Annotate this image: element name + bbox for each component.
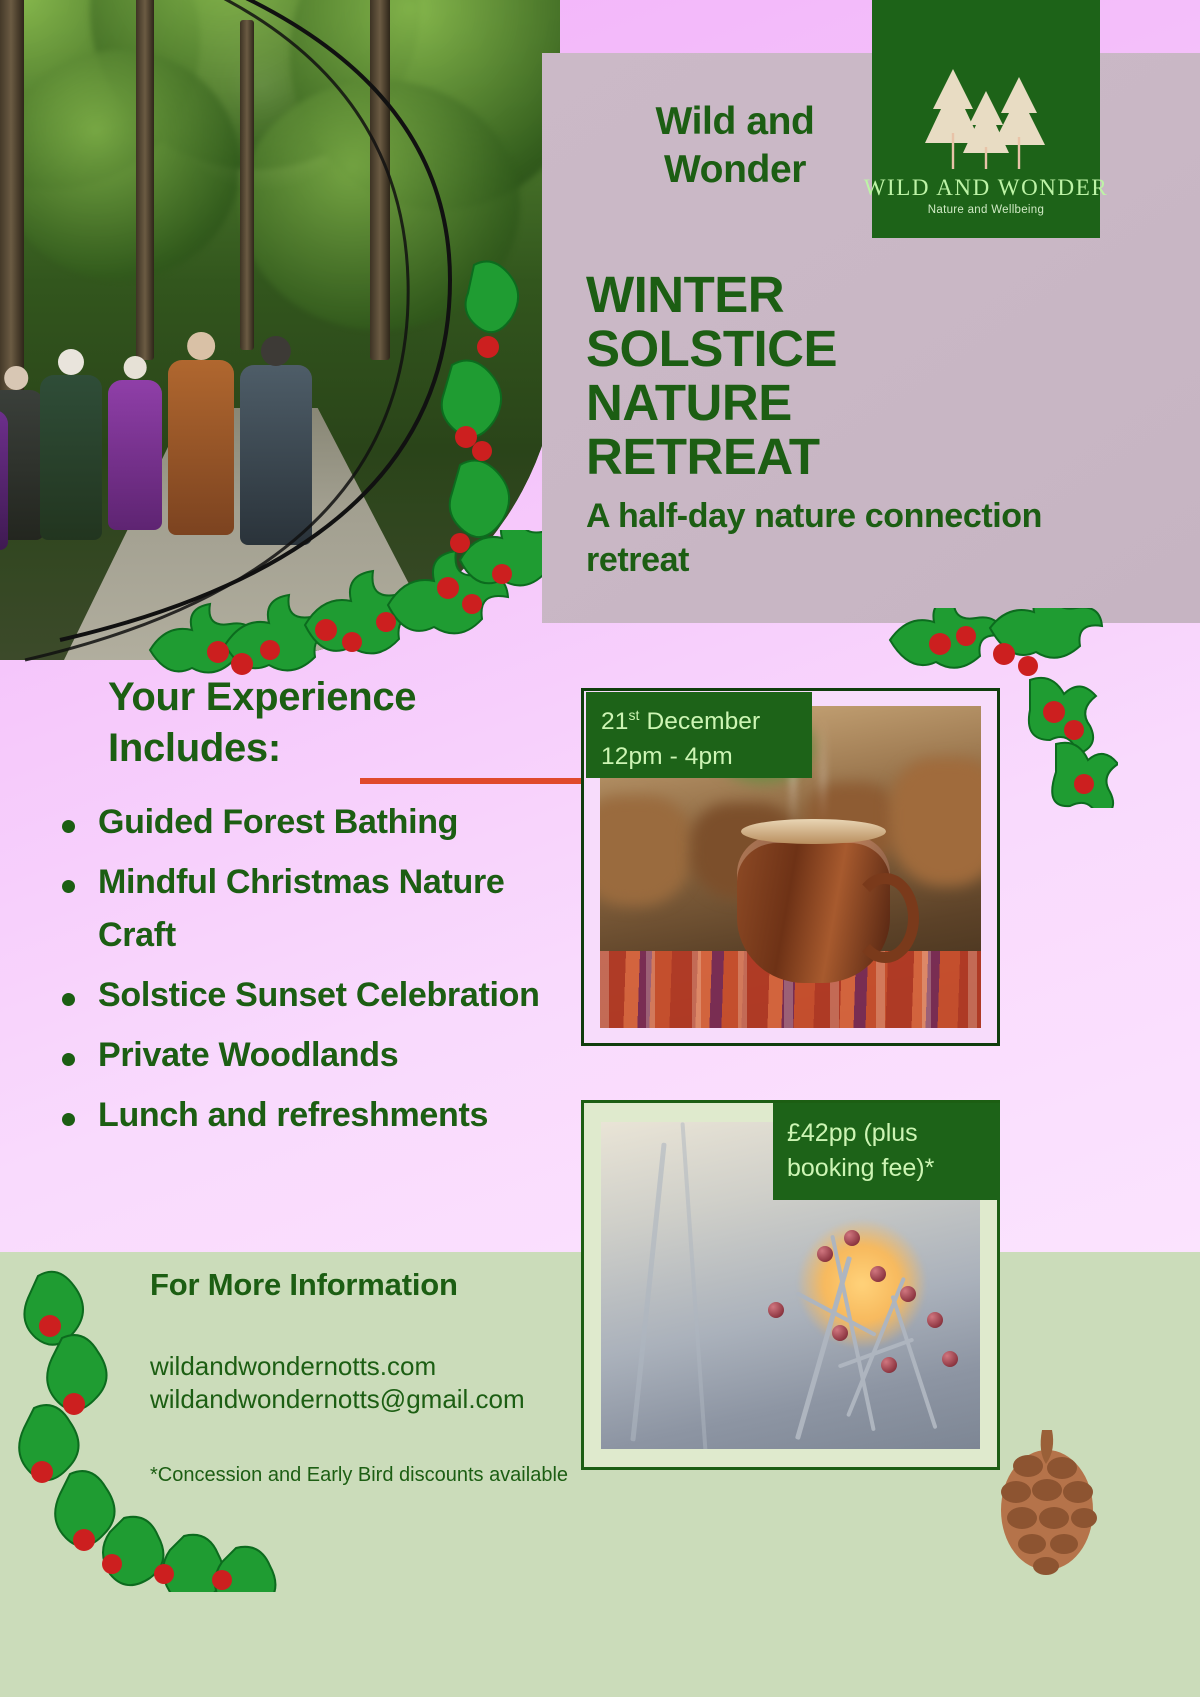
brand-logo: WILD AND WONDER Nature and Wellbeing <box>872 0 1100 238</box>
brand-name-line1: Wild and <box>656 100 815 143</box>
frost-berry <box>881 1357 897 1373</box>
title-line-4: RETREAT <box>586 430 1146 484</box>
pinecone-icon <box>988 1424 1106 1576</box>
frost-berry <box>942 1351 958 1367</box>
title-line-3: NATURE <box>586 376 1146 430</box>
experience-list: Guided Forest Bathing Mindful Christmas … <box>52 796 582 1148</box>
frost-berry <box>844 1230 860 1246</box>
footer-title: For More Information <box>150 1265 480 1305</box>
date-badge: 21st December 12pm - 4pm <box>586 692 812 778</box>
brand-name: Wild and Wonder <box>600 98 870 193</box>
three-pine-trees-icon <box>911 61 1061 173</box>
list-item: Lunch and refreshments <box>52 1089 582 1143</box>
holly-sprig-footer-icon <box>8 1262 308 1592</box>
list-item: Guided Forest Bathing <box>52 796 582 850</box>
email-link[interactable]: wildandwondernotts@gmail.com <box>150 1383 620 1416</box>
frost-berry <box>927 1312 943 1328</box>
logo-tagline: Nature and Wellbeing <box>928 204 1044 216</box>
experience-heading: Your Experience Includes: <box>108 672 548 774</box>
page-subtitle: A half-day nature connection retreat <box>586 494 1106 582</box>
date-month: December <box>646 708 760 735</box>
footer-disclaimer: *Concession and Early Bird discounts ava… <box>150 1462 580 1488</box>
poster-root: Wild and Wonder WILD AND WONDER Nature a… <box>0 0 1200 1697</box>
frost-berry <box>870 1266 886 1282</box>
page-title: WINTER SOLSTICE NATURE RETREAT <box>586 268 1146 484</box>
title-line-2: SOLSTICE <box>586 322 1146 376</box>
holly-sprig-left-edge-icon <box>430 255 550 585</box>
title-line-1: WINTER <box>586 268 1146 322</box>
list-item: Private Woodlands <box>52 1029 582 1083</box>
price-badge: £42pp (plus booking fee)* <box>773 1103 1000 1200</box>
footer-contact: wildandwondernotts.com wildandwondernott… <box>150 1350 620 1417</box>
price-line-1: £42pp (plus <box>787 1119 918 1147</box>
date-suffix: st <box>628 707 639 723</box>
website-link[interactable]: wildandwondernotts.com <box>150 1350 620 1383</box>
frost-berry <box>832 1325 848 1341</box>
list-item: Mindful Christmas Nature Craft <box>52 856 582 963</box>
price-line-2: booking fee)* <box>787 1154 934 1182</box>
frost-berry <box>900 1286 916 1302</box>
date-day: 21 <box>601 708 628 735</box>
list-item: Solstice Sunset Celebration <box>52 969 582 1023</box>
clay-mug <box>737 835 889 983</box>
date-time: 12pm - 4pm <box>601 743 733 770</box>
frost-berry <box>768 1302 784 1318</box>
logo-wordmark: WILD AND WONDER <box>864 175 1109 201</box>
brand-name-line2: Wonder <box>664 148 806 191</box>
